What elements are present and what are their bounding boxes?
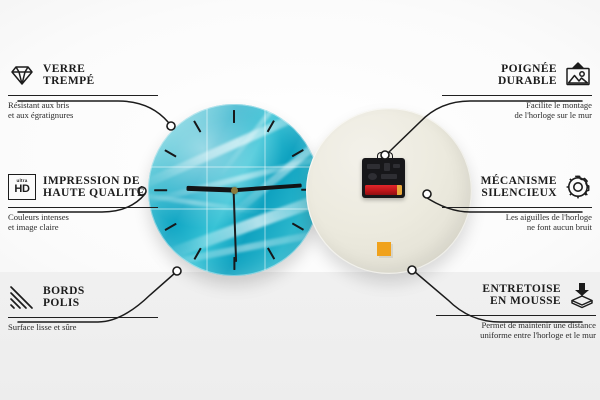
polished-edge-icon bbox=[8, 283, 36, 311]
divider bbox=[442, 95, 592, 96]
feature-subtitle: Permet de maintenir une distance uniform… bbox=[436, 320, 596, 341]
foam-spacer-icon bbox=[568, 281, 596, 309]
divider bbox=[436, 315, 596, 316]
feature-bords-polis: BORDS POLIS Surface lisse et sûre bbox=[8, 280, 158, 332]
feature-title: BORDS POLIS bbox=[43, 285, 85, 310]
feature-title: MÉCANISME SILENCIEUX bbox=[481, 175, 557, 200]
feature-subtitle: Couleurs intenses et image claire bbox=[8, 212, 158, 233]
diamond-icon bbox=[8, 61, 36, 89]
gear-icon bbox=[564, 173, 592, 201]
feature-verre-trempe: VERRE TREMPÉ Résistant aux bris et aux é… bbox=[8, 58, 158, 121]
feature-title: POIGNÉE DURABLE bbox=[498, 63, 557, 88]
ultra-hd-icon-main-label: HD bbox=[14, 184, 29, 195]
ultra-hd-icon: ultra HD bbox=[8, 174, 36, 200]
feature-header: ENTRETOISE EN MOUSSE bbox=[436, 278, 596, 312]
divider bbox=[8, 317, 158, 318]
divider bbox=[8, 95, 158, 96]
feature-subtitle: Surface lisse et sûre bbox=[8, 322, 158, 332]
feature-entretoise-en-mousse: ENTRETOISE EN MOUSSE Permet de maintenir… bbox=[436, 278, 596, 341]
feature-title: ENTRETOISE EN MOUSSE bbox=[482, 283, 561, 308]
feature-poignee-durable: POIGNÉE DURABLE Facilite le montage de l… bbox=[442, 58, 592, 121]
feature-title: IMPRESSION DE HAUTE QUALITÉ bbox=[43, 175, 145, 200]
divider bbox=[442, 207, 592, 208]
infographic-canvas: VERRE TREMPÉ Résistant aux bris et aux é… bbox=[0, 0, 600, 400]
feature-header: MÉCANISME SILENCIEUX bbox=[442, 170, 592, 204]
feature-subtitle: Résistant aux bris et aux égratignures bbox=[8, 100, 158, 121]
feature-header: ultra HD IMPRESSION DE HAUTE QUALITÉ bbox=[8, 170, 158, 204]
feature-impression-haute-qualite: ultra HD IMPRESSION DE HAUTE QUALITÉ Cou… bbox=[8, 170, 158, 233]
feature-header: POIGNÉE DURABLE bbox=[442, 58, 592, 92]
wall-clock-front bbox=[148, 104, 320, 276]
feature-subtitle: Les aiguilles de l'horloge ne font aucun… bbox=[442, 212, 592, 233]
feature-header: BORDS POLIS bbox=[8, 280, 158, 314]
picture-hanger-icon bbox=[564, 61, 592, 89]
glass-rim bbox=[148, 104, 320, 276]
divider bbox=[8, 207, 158, 208]
feature-header: VERRE TREMPÉ bbox=[8, 58, 158, 92]
feature-subtitle: Facilite le montage de l'horloge sur le … bbox=[442, 100, 592, 121]
feature-title: VERRE TREMPÉ bbox=[43, 63, 95, 88]
feature-mecanisme-silencieux: MÉCANISME SILENCIEUX Les aiguilles de l'… bbox=[442, 170, 592, 233]
